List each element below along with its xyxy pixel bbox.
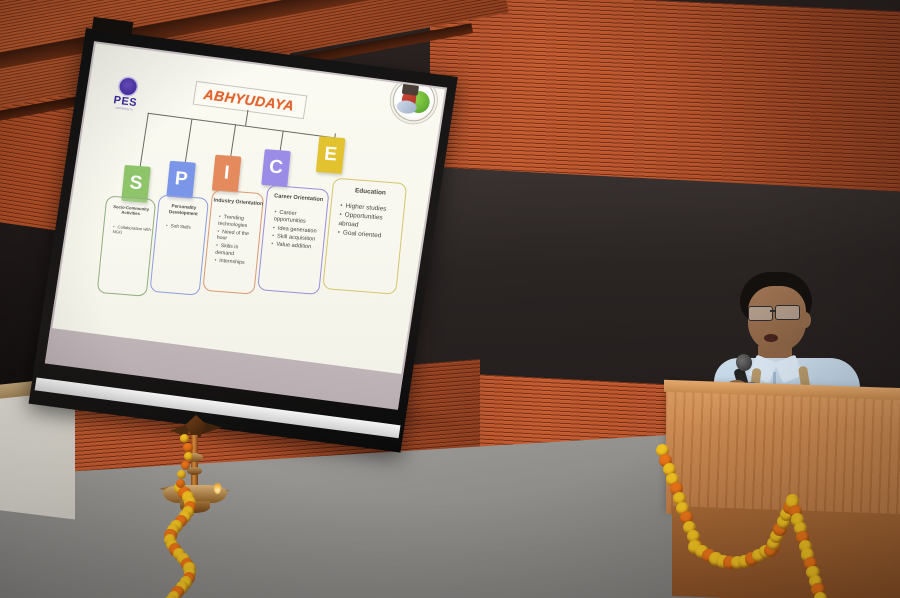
card-bullets-career-orientation: Career opportunitiesIdea generationSkill… — [264, 209, 326, 254]
glasses-right-lens-icon — [775, 305, 800, 320]
card-bullets-education: Higher studiesOpportunities abroadGoal o… — [330, 202, 403, 244]
marigold-flower — [180, 434, 189, 443]
connector-c — [279, 131, 283, 153]
marigold-flower — [183, 443, 192, 452]
connector-i — [230, 124, 236, 158]
speaker-ear — [800, 312, 811, 328]
lamp-marigold-garland — [150, 420, 240, 598]
card-bullet: Collaboration with NGO — [112, 224, 152, 238]
speaker-mouth — [764, 334, 778, 342]
marigold-flower — [814, 592, 827, 598]
glasses-bridge — [770, 310, 776, 312]
pes-logo: PES UNIVERSITY — [100, 75, 150, 124]
letter-tile-p: P — [166, 161, 196, 199]
projected-slide: PES UNIVERSITY ABHYUDAYA — [52, 43, 445, 374]
card-bullets-industry-orientation: Trending technologiesNeed of the hourSki… — [207, 213, 260, 268]
connector-p — [185, 119, 193, 165]
slide-content: PES UNIVERSITY ABHYUDAYA — [52, 43, 445, 374]
letter-tile-i: I — [212, 155, 242, 193]
marigold-flower — [181, 461, 190, 470]
glasses-left-lens-icon — [748, 306, 773, 321]
podium-marigold-garland — [650, 440, 900, 598]
letter-tile-e: E — [316, 136, 346, 174]
letter-tile-c: C — [261, 149, 291, 187]
marigold-flower — [177, 470, 186, 479]
marigold-flower — [184, 452, 193, 461]
projection-screen[interactable]: PES UNIVERSITY ABHYUDAYA — [29, 28, 458, 453]
connector-title-stem — [245, 110, 248, 126]
pes-emblem-icon — [118, 77, 137, 96]
auditorium-scene: PES UNIVERSITY ABHYUDAYA — [0, 0, 900, 598]
